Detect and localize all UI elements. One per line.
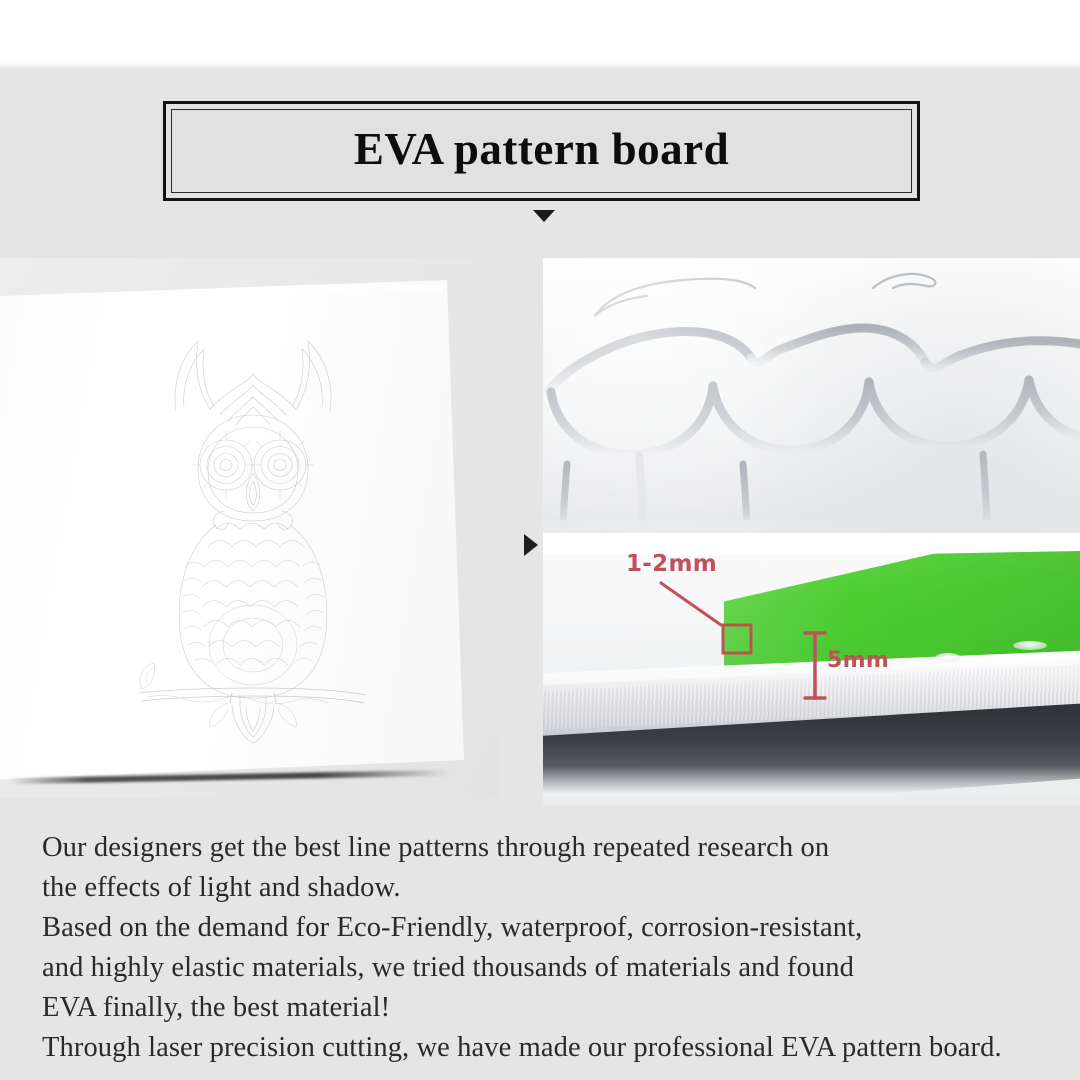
page-title: EVA pattern board <box>354 127 729 172</box>
description-line: Our designers get the best line patterns… <box>42 828 1052 868</box>
description-line: EVA finally, the best material! <box>42 988 1052 1028</box>
annotation-board-thickness: 5mm <box>827 648 889 673</box>
product-infographic: EVA pattern board <box>0 0 1080 1080</box>
photo-lighting-overlay <box>543 258 1080 533</box>
description-line: Through laser precision cutting, we have… <box>42 1028 1052 1068</box>
owl-line-pattern <box>128 315 378 745</box>
title-box-inner-border: EVA pattern board <box>171 109 912 193</box>
top-white-band <box>0 0 1080 68</box>
foam-board-sheet <box>0 280 464 780</box>
triangle-right-icon <box>524 534 538 556</box>
scalloped-groove-macro-photo <box>543 258 1080 533</box>
annotation-groove-depth: 1-2mm <box>626 551 717 577</box>
description-line: and highly elastic materials, we tried t… <box>42 948 1052 988</box>
foam-thickness-photo: 1-2mm 5mm <box>543 533 1080 806</box>
description-line: the effects of light and shadow. <box>42 868 1052 908</box>
description-block: Our designers get the best line patterns… <box>42 828 1052 1068</box>
owl-pattern-board-photo <box>0 258 500 798</box>
triangle-down-icon <box>533 210 555 222</box>
dimension-annotations <box>543 533 1080 806</box>
description-line: Based on the demand for Eco-Friendly, wa… <box>42 908 1052 948</box>
title-box: EVA pattern board <box>163 101 920 201</box>
